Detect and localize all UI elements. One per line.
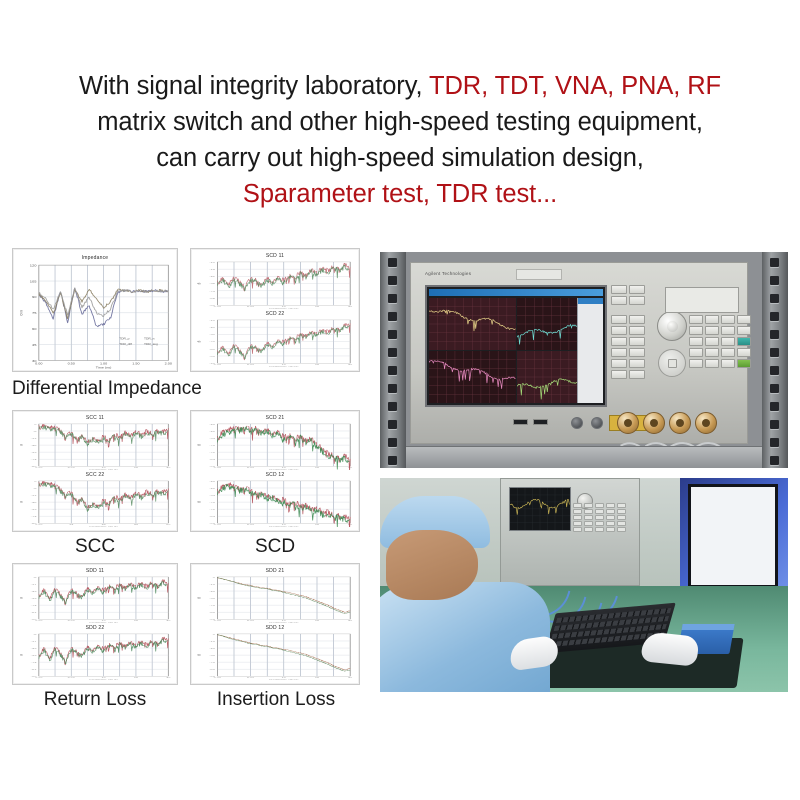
rack-hole xyxy=(388,330,397,339)
lab-vna-key xyxy=(606,509,615,514)
svg-text:0: 0 xyxy=(213,633,216,635)
svg-text:-50: -50 xyxy=(209,348,215,350)
svg-text:Frequency (GHz): Frequency (GHz) xyxy=(269,307,298,309)
vna-key[interactable] xyxy=(611,348,627,357)
vna-key[interactable] xyxy=(689,337,703,346)
mini-chart-scd21: SCD 21 -20-27-33-40-47-53-600.005.001015… xyxy=(195,415,355,470)
svg-text:15: 15 xyxy=(134,620,139,622)
svg-text:-14: -14 xyxy=(31,583,37,585)
svg-text:-33: -33 xyxy=(31,508,37,510)
svg-text:20: 20 xyxy=(348,620,353,622)
mini-chart-plot: 0-10-20-30-40-50-600.005.00101520dBFrequ… xyxy=(195,576,355,623)
mini-chart-title: SCC 22 xyxy=(17,472,173,478)
svg-text:dB: dB xyxy=(18,501,23,502)
svg-text:dB: dB xyxy=(197,444,202,445)
rack-hole xyxy=(770,348,779,357)
vna-quadrant-s12[interactable] xyxy=(429,351,516,403)
usb-port-2[interactable] xyxy=(533,419,548,425)
svg-text:15: 15 xyxy=(315,620,320,622)
svg-text:0.00: 0.00 xyxy=(35,524,43,526)
svg-text:-5: -5 xyxy=(33,576,37,578)
vna-key[interactable] xyxy=(629,348,645,357)
rack-hole xyxy=(770,276,779,285)
lab-vna-key xyxy=(584,503,593,508)
svg-text:-33: -33 xyxy=(31,654,37,656)
svg-text:5.00: 5.00 xyxy=(68,467,76,469)
svg-text:5.00: 5.00 xyxy=(247,677,255,679)
svg-text:20: 20 xyxy=(348,677,353,679)
vna-secondary-display xyxy=(665,287,739,313)
svg-text:-51: -51 xyxy=(31,669,37,671)
lab-vna-key xyxy=(606,503,615,508)
vna-key[interactable] xyxy=(611,285,627,294)
svg-text:-30: -30 xyxy=(209,334,215,336)
vna-key[interactable] xyxy=(737,359,751,368)
rack-hole xyxy=(770,294,779,303)
svg-text:Frequency (GHz): Frequency (GHz) xyxy=(89,678,118,680)
panel-scc[interactable]: SCC 11 0-8-17-25-33-42-500.005.00101520d… xyxy=(12,410,178,532)
lab-vna-key xyxy=(573,527,582,532)
mini-chart-title: SCD 22 xyxy=(195,311,355,317)
svg-text:TDR_p: TDR_p xyxy=(119,337,130,340)
vna-key[interactable] xyxy=(721,326,735,335)
svg-text:5.00: 5.00 xyxy=(247,306,255,308)
svg-text:0.00: 0.00 xyxy=(214,364,222,366)
svg-text:Frequency (GHz): Frequency (GHz) xyxy=(269,622,299,623)
svg-text:0.00: 0.00 xyxy=(214,524,222,526)
svg-text:75: 75 xyxy=(32,312,37,315)
svg-text:60: 60 xyxy=(32,328,37,331)
vna-key[interactable] xyxy=(629,326,645,335)
mini-chart-title: Impedance xyxy=(17,255,173,261)
svg-text:15: 15 xyxy=(315,467,320,469)
svg-text:-14: -14 xyxy=(31,640,37,642)
lab-vna-key xyxy=(617,527,626,532)
vna-enter-button[interactable] xyxy=(668,359,677,368)
svg-text:0.00: 0.00 xyxy=(214,467,222,469)
svg-text:-35: -35 xyxy=(209,283,215,285)
svg-text:-33: -33 xyxy=(209,494,215,496)
mini-chart-impedance: Impedance 12010590756045300.000.501.001.… xyxy=(17,255,173,369)
svg-text:-42: -42 xyxy=(31,661,37,663)
svg-text:5.00: 5.00 xyxy=(247,620,255,622)
rack-hole xyxy=(388,276,397,285)
test-port-1[interactable] xyxy=(617,412,639,434)
lab-vna-key xyxy=(595,527,604,532)
rack-post-right xyxy=(762,252,788,468)
panel-body: SDD 21 0-10-20-30-40-50-600.005.00101520… xyxy=(195,568,355,680)
vna-key[interactable] xyxy=(689,348,703,357)
svg-text:-10: -10 xyxy=(209,261,215,263)
svg-text:dB: dB xyxy=(197,283,202,285)
svg-text:-47: -47 xyxy=(209,509,215,511)
svg-text:1.50: 1.50 xyxy=(132,362,140,365)
svg-text:-20: -20 xyxy=(209,423,215,425)
mini-chart-plot: 12010590756045300.000.501.001.502.00OhmT… xyxy=(17,263,173,369)
title-accent-text: Sparameter test, TDR test... xyxy=(243,180,557,208)
svg-text:15: 15 xyxy=(134,467,139,469)
vna-key[interactable] xyxy=(705,348,719,357)
mini-chart-scd22: SCD 22 -10-20-30-40-50-60-700.005.001015… xyxy=(195,311,355,367)
svg-text:0: 0 xyxy=(34,480,37,482)
rack-hole xyxy=(388,384,397,393)
svg-text:0.00: 0.00 xyxy=(35,620,43,622)
vna-softkey-header xyxy=(578,298,603,304)
svg-text:-8: -8 xyxy=(33,487,37,489)
svg-text:20: 20 xyxy=(166,620,171,622)
vna-rotary-knob[interactable] xyxy=(657,311,687,341)
svg-text:0: 0 xyxy=(34,423,37,425)
vna-softkey-panel[interactable] xyxy=(577,298,603,403)
svg-text:Frequency (GHz): Frequency (GHz) xyxy=(89,468,118,470)
vna-key[interactable] xyxy=(737,348,751,357)
svg-text:20: 20 xyxy=(166,467,171,469)
svg-text:0.50: 0.50 xyxy=(68,362,76,365)
svg-text:-5: -5 xyxy=(33,633,37,635)
svg-text:105: 105 xyxy=(30,280,37,283)
svg-text:38: 38 xyxy=(134,524,139,526)
mini-chart-sdd12: SDD 12 0-10-20-30-40-50-600.005.00101520… xyxy=(195,625,355,680)
mini-chart-scc11: SCC 11 0-8-17-25-33-42-500.005.00101520d… xyxy=(17,415,173,470)
vna-key[interactable] xyxy=(705,359,719,368)
mini-chart-scd12: SCD 12 -20-27-33-40-47-53-600.005.001015… xyxy=(195,472,355,527)
vna-key[interactable] xyxy=(721,348,735,357)
svg-text:-25: -25 xyxy=(31,444,37,446)
title-text: can carry out high-speed simulation desi… xyxy=(156,144,644,172)
vna-front-io-row xyxy=(421,411,741,437)
lab-vna-key xyxy=(573,521,582,526)
svg-text:dB: dB xyxy=(197,341,202,343)
rack-hole xyxy=(388,258,397,267)
rack-hole xyxy=(770,438,779,447)
rack-hole xyxy=(770,420,779,429)
svg-text:Frequency (GHz): Frequency (GHz) xyxy=(269,469,299,470)
lab-vna-key xyxy=(595,521,604,526)
vna-key[interactable] xyxy=(611,370,627,379)
svg-text:-27: -27 xyxy=(209,276,215,278)
lab-vna-key xyxy=(595,503,604,508)
vna-key[interactable] xyxy=(629,337,645,346)
vna-key[interactable] xyxy=(629,315,645,324)
mini-chart-sdd22: SDD 22 -5-14-23-33-42-51-600.005.0010152… xyxy=(17,625,173,680)
technician-face xyxy=(386,530,478,600)
rack-hole xyxy=(770,258,779,267)
lab-vna-key xyxy=(584,509,593,514)
title-text: With signal integrity laboratory, xyxy=(79,72,429,100)
svg-text:-20: -20 xyxy=(209,327,215,329)
monitor-bezel xyxy=(688,484,778,588)
svg-text:Time (ns): Time (ns) xyxy=(96,366,112,369)
lab-vna-key xyxy=(573,515,582,520)
vna-key[interactable] xyxy=(721,315,735,324)
svg-text:dB: dB xyxy=(197,654,202,655)
mini-chart-sdd11: SDD 11 -5-14-23-33-42-51-600.005.0010152… xyxy=(17,568,173,623)
mini-chart-title: SCD 12 xyxy=(195,472,355,478)
bnc-connector-1[interactable] xyxy=(571,417,583,429)
panel-scd-top[interactable]: SCD 11 -10-18-27-35-43-52-600.005.001015… xyxy=(190,248,360,372)
svg-text:-10: -10 xyxy=(209,319,215,321)
svg-text:-40: -40 xyxy=(209,501,215,503)
caption-scd: SCD xyxy=(190,536,360,558)
rack-hole xyxy=(388,438,397,447)
caption-insertion-loss: Insertion Loss xyxy=(186,689,366,711)
vna-navigation-pad[interactable] xyxy=(658,349,686,377)
svg-text:-40: -40 xyxy=(209,341,215,343)
monitor-screen xyxy=(691,487,775,585)
mini-chart-scd11: SCD 11 -10-18-27-35-43-52-600.005.001015… xyxy=(195,253,355,309)
rack-hole xyxy=(388,366,397,375)
mini-chart-title: SCC 11 xyxy=(17,415,173,421)
vna-key[interactable] xyxy=(737,326,751,335)
svg-text:-10: -10 xyxy=(209,640,215,642)
svg-text:0: 0 xyxy=(213,576,216,578)
mini-chart-plot: -5-14-23-33-42-51-600.005.00101520dBFreq… xyxy=(17,633,173,680)
svg-text:-40: -40 xyxy=(209,662,215,664)
technician xyxy=(380,496,530,692)
svg-text:-33: -33 xyxy=(209,437,215,439)
svg-text:5.00: 5.00 xyxy=(247,467,255,469)
svg-text:5.00: 5.00 xyxy=(247,524,255,526)
rack-hole xyxy=(770,312,779,321)
rack-hole xyxy=(388,420,397,429)
vna-quadrant-s11[interactable] xyxy=(429,298,516,350)
mini-chart-title: SCD 21 xyxy=(195,415,355,421)
rack-hole xyxy=(770,366,779,375)
panel-body: SDD 11 -5-14-23-33-42-51-600.005.0010152… xyxy=(17,568,173,680)
svg-text:-17: -17 xyxy=(31,494,37,496)
svg-text:-33: -33 xyxy=(31,451,37,453)
svg-text:-42: -42 xyxy=(31,516,37,518)
svg-text:-53: -53 xyxy=(209,459,215,461)
svg-text:-8: -8 xyxy=(33,430,37,432)
svg-text:-25: -25 xyxy=(31,501,37,503)
mini-chart-title: SDD 22 xyxy=(17,625,173,631)
rack-hole xyxy=(388,312,397,321)
vna-display-screen[interactable] xyxy=(425,285,607,407)
svg-text:90: 90 xyxy=(32,296,37,299)
svg-text:0.00: 0.00 xyxy=(35,677,43,679)
svg-text:-60: -60 xyxy=(209,355,215,357)
svg-text:-10: -10 xyxy=(209,583,215,585)
svg-text:-17: -17 xyxy=(31,437,37,439)
title-accent-text: TDR, TDT, VNA, PNA, RF xyxy=(429,72,721,100)
panel-scd[interactable]: SCD 21 -20-27-33-40-47-53-600.005.001015… xyxy=(190,410,360,532)
svg-text:dB: dB xyxy=(197,597,202,598)
title-text: matrix switch and other high-speed testi… xyxy=(97,108,703,136)
lab-vna-key xyxy=(595,515,604,520)
svg-text:-18: -18 xyxy=(209,269,215,271)
lab-vna-key xyxy=(584,521,593,526)
svg-text:120: 120 xyxy=(30,264,37,267)
svg-text:5.00: 5.00 xyxy=(68,677,76,679)
svg-text:1.00: 1.00 xyxy=(100,362,108,365)
svg-text:-23: -23 xyxy=(31,590,37,592)
vna-brand-label: Agilent Technologies xyxy=(425,271,471,276)
rack-hole xyxy=(770,384,779,393)
vna-model-plate xyxy=(516,269,562,280)
rack-hole xyxy=(770,330,779,339)
svg-text:-51: -51 xyxy=(31,612,37,614)
page-title-line: Sparameter test, TDR test... xyxy=(0,176,800,212)
bnc-connector-2[interactable] xyxy=(591,417,603,429)
svg-text:-52: -52 xyxy=(209,297,215,299)
svg-text:-42: -42 xyxy=(31,459,37,461)
svg-text:0.00: 0.00 xyxy=(214,620,222,622)
mini-chart-title: SDD 12 xyxy=(195,625,355,631)
svg-text:-30: -30 xyxy=(209,597,215,599)
lab-vna-key xyxy=(573,503,582,508)
vna-window-titlebar xyxy=(429,289,603,296)
svg-text:20: 20 xyxy=(166,677,171,679)
svg-text:15: 15 xyxy=(315,677,320,679)
vna-key[interactable] xyxy=(721,359,735,368)
parts-bin-lip xyxy=(682,624,735,630)
vna-key[interactable] xyxy=(737,337,751,346)
lab-vna-key xyxy=(617,521,626,526)
panel-body: SCC 11 0-8-17-25-33-42-500.005.00101520d… xyxy=(17,415,173,527)
lab-vna-key xyxy=(606,527,615,532)
lab-vna-key xyxy=(584,515,593,520)
panel-differential-impedance[interactable]: Impedance 12010590756045300.000.501.001.… xyxy=(12,248,178,372)
svg-text:-42: -42 xyxy=(31,604,37,606)
vna-key[interactable] xyxy=(689,315,703,324)
mini-chart-title: SDD 21 xyxy=(195,568,355,574)
vna-key[interactable] xyxy=(705,315,719,324)
vna-key[interactable] xyxy=(611,315,627,324)
lab-vna-key xyxy=(595,509,604,514)
vna-instrument: Agilent Technologies xyxy=(410,262,748,444)
panel-return-loss[interactable]: SDD 11 -5-14-23-33-42-51-600.005.0010152… xyxy=(12,563,178,685)
rack-post-left xyxy=(380,252,406,468)
svg-text:dB: dB xyxy=(197,501,202,502)
svg-text:-33: -33 xyxy=(31,597,37,599)
svg-text:0.00: 0.00 xyxy=(35,362,43,365)
vna-key[interactable] xyxy=(611,337,627,346)
lab-vna-key xyxy=(573,509,582,514)
lab-vna-key xyxy=(617,503,626,508)
svg-text:5.00: 5.00 xyxy=(68,620,76,622)
photo-lab-bench xyxy=(380,478,788,692)
mini-chart-title: SDD 11 xyxy=(17,568,173,574)
svg-text:15: 15 xyxy=(134,677,139,679)
lab-vna-key xyxy=(617,515,626,520)
lab-vna-key xyxy=(606,515,615,520)
svg-text:-20: -20 xyxy=(209,647,215,649)
vna-key[interactable] xyxy=(611,359,627,368)
svg-text:TDR_diff: TDR_diff xyxy=(119,342,132,345)
mini-chart-plot: 0-8-17-25-33-42-500.005.00101520dBFreque… xyxy=(17,423,173,470)
lab-vna-key xyxy=(584,527,593,532)
lab-vna-key xyxy=(617,509,626,514)
panel-body: SCD 11 -10-18-27-35-43-52-600.005.001015… xyxy=(195,253,355,367)
vna-key[interactable] xyxy=(689,359,703,368)
mini-chart-plot: -5-14-23-33-42-51-600.005.00101520dBFreq… xyxy=(17,576,173,623)
page-title: With signal integrity laboratory, TDR, T… xyxy=(0,68,800,212)
lab-vna-keypad xyxy=(573,485,633,533)
chart-gallery: Impedance 12010590756045300.000.501.001.… xyxy=(0,248,372,718)
caption-differential-impedance: Differential Impedance xyxy=(12,378,202,400)
svg-text:20: 20 xyxy=(348,467,353,469)
rack-hole xyxy=(770,402,779,411)
vna-key[interactable] xyxy=(705,326,719,335)
mini-chart-plot: -20-27-33-40-47-53-600.005.00101520dBFre… xyxy=(195,480,355,527)
gloved-hand-right xyxy=(641,631,700,667)
svg-text:15: 15 xyxy=(315,364,320,366)
mini-chart-plot: 0-10-20-30-40-50-600.005.00101520dBFrequ… xyxy=(195,633,355,680)
svg-text:2.00: 2.00 xyxy=(165,362,173,365)
svg-text:-53: -53 xyxy=(209,516,215,518)
svg-text:TDR_avg: TDR_avg xyxy=(144,342,158,345)
vna-key[interactable] xyxy=(629,359,645,368)
vna-key[interactable] xyxy=(737,315,751,324)
svg-text:Frequency (GHz): Frequency (GHz) xyxy=(89,525,118,527)
vna-key[interactable] xyxy=(689,326,703,335)
svg-text:20: 20 xyxy=(348,364,353,366)
usb-port-1[interactable] xyxy=(513,419,528,425)
mini-chart-title: SCD 11 xyxy=(195,253,355,259)
svg-text:dB: dB xyxy=(18,444,23,445)
lab-vna-key xyxy=(606,521,615,526)
page-title-line: can carry out high-speed simulation desi… xyxy=(0,140,800,176)
rack-hole xyxy=(388,348,397,357)
page-title-line: matrix switch and other high-speed testi… xyxy=(0,104,800,140)
svg-text:-40: -40 xyxy=(209,444,215,446)
svg-text:Frequency (GHz): Frequency (GHz) xyxy=(269,679,299,680)
vna-key[interactable] xyxy=(629,370,645,379)
svg-text:13: 13 xyxy=(69,524,74,526)
rack-hole xyxy=(388,402,397,411)
svg-text:dB: dB xyxy=(18,597,23,598)
svg-text:0.00: 0.00 xyxy=(35,467,43,469)
vna-key[interactable] xyxy=(705,337,719,346)
svg-text:0.00: 0.00 xyxy=(214,677,222,679)
vna-key[interactable] xyxy=(629,296,645,305)
svg-text:-40: -40 xyxy=(209,605,215,607)
svg-text:15: 15 xyxy=(315,306,320,308)
svg-text:20: 20 xyxy=(348,306,353,308)
panel-body: Impedance 12010590756045300.000.501.001.… xyxy=(17,253,173,367)
mini-chart-sdd21: SDD 21 0-10-20-30-40-50-600.005.00101520… xyxy=(195,568,355,623)
svg-text:-27: -27 xyxy=(209,430,215,432)
svg-text:-47: -47 xyxy=(209,452,215,454)
test-port-3[interactable] xyxy=(669,412,691,434)
rack-shelf xyxy=(406,446,762,468)
vna-key[interactable] xyxy=(611,296,627,305)
vna-key[interactable] xyxy=(721,337,735,346)
svg-text:Frequency (GHz): Frequency (GHz) xyxy=(269,365,298,367)
vna-key[interactable] xyxy=(629,285,645,294)
svg-text:TDR_n: TDR_n xyxy=(144,337,155,340)
svg-text:20: 20 xyxy=(348,524,353,526)
photo-vna-rack: Agilent Technologies xyxy=(380,252,788,468)
test-port-4[interactable] xyxy=(695,412,717,434)
test-port-2[interactable] xyxy=(643,412,665,434)
svg-text:5.00: 5.00 xyxy=(247,364,255,366)
svg-text:45: 45 xyxy=(32,344,37,347)
svg-text:-50: -50 xyxy=(209,612,215,614)
mini-chart-plot: -20-27-33-40-47-53-600.005.00101520dBFre… xyxy=(195,423,355,470)
svg-text:Frequency (GHz): Frequency (GHz) xyxy=(269,526,299,527)
vna-key[interactable] xyxy=(611,326,627,335)
rack-hole xyxy=(388,456,397,465)
svg-text:-23: -23 xyxy=(31,647,37,649)
panel-insertion-loss[interactable]: SDD 21 0-10-20-30-40-50-600.005.00101520… xyxy=(190,563,360,685)
svg-text:15: 15 xyxy=(315,524,320,526)
svg-text:50: 50 xyxy=(166,524,171,526)
page-title-line: With signal integrity laboratory, TDR, T… xyxy=(0,68,800,104)
mini-chart-plot: -10-18-27-35-43-52-600.005.00101520dBFre… xyxy=(195,261,355,309)
panel-body: SCD 21 -20-27-33-40-47-53-600.005.001015… xyxy=(195,415,355,527)
